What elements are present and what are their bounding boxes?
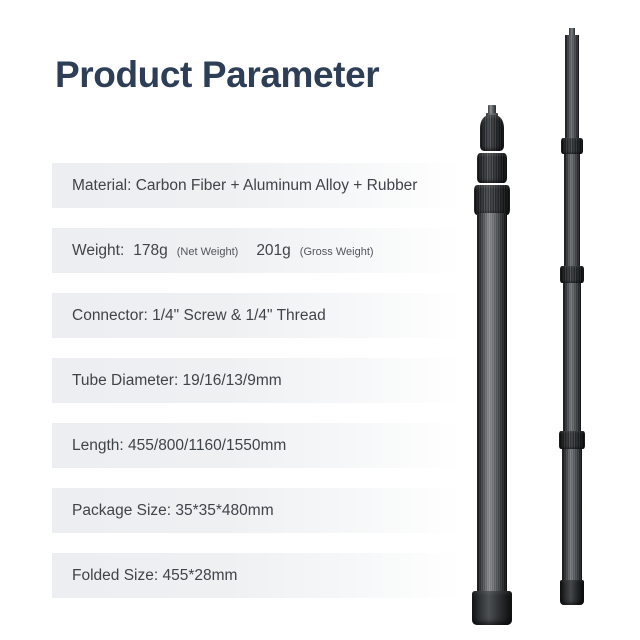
spec-row-connector: Connector: 1/4" Screw & 1/4" Thread (52, 293, 462, 338)
spec-row-material: Material: Carbon Fiber + Aluminum Alloy … (52, 163, 462, 208)
monopod-twist-lock-collar-1 (477, 153, 507, 183)
page-title: Product Parameter (55, 55, 379, 96)
spec-text-material: Material: Carbon Fiber + Aluminum Alloy … (52, 178, 417, 194)
monopod-folded-image (458, 105, 528, 625)
spec-text-package-size: Package Size: 35*35*480mm (52, 503, 274, 519)
spec-text-folded-size: Folded Size: 455*28mm (52, 568, 237, 584)
monopod-extended-section-1 (565, 35, 579, 148)
spec-text-tube-diameter: Tube Diameter: 19/16/13/9mm (52, 373, 282, 389)
spec-text-connector: Connector: 1/4" Screw & 1/4" Thread (52, 308, 326, 324)
monopod-top-cap (480, 115, 504, 151)
monopod-rubber-foot-folded (472, 591, 512, 625)
weight-label: Weight: (72, 242, 124, 259)
monopod-carbon-tube-folded (477, 213, 507, 601)
product-parameter-page: Product Parameter Material: Carbon Fiber… (0, 0, 640, 640)
weight-net-value: 178g (133, 242, 167, 259)
spec-text-weight: Weight:178g(Net Weight)201g(Gross Weight… (52, 243, 374, 259)
spec-row-tube-diameter: Tube Diameter: 19/16/13/9mm (52, 358, 462, 403)
monopod-rubber-foot-extended (560, 580, 584, 605)
weight-gross-value: 201g (256, 242, 290, 259)
weight-gross-note: (Gross Weight) (300, 246, 374, 258)
monopod-extended-image (550, 28, 598, 613)
spec-text-length: Length: 455/800/1160/1550mm (52, 438, 286, 454)
monopod-extended-section-2 (564, 146, 580, 276)
monopod-extended-section-3 (563, 274, 581, 442)
spec-list: Material: Carbon Fiber + Aluminum Alloy … (52, 163, 462, 618)
monopod-extended-lock-1 (561, 138, 583, 154)
spec-row-length: Length: 455/800/1160/1550mm (52, 423, 462, 468)
spec-row-package-size: Package Size: 35*35*480mm (52, 488, 462, 533)
monopod-extended-lock-2 (560, 266, 584, 283)
monopod-extended-section-4 (562, 440, 582, 600)
weight-net-note: (Net Weight) (177, 246, 239, 258)
monopod-extended-lock-3 (559, 431, 585, 449)
spec-row-weight: Weight:178g(Net Weight)201g(Gross Weight… (52, 228, 462, 273)
spec-row-folded-size: Folded Size: 455*28mm (52, 553, 462, 598)
product-image-area (440, 0, 640, 640)
monopod-twist-lock-collar-2 (474, 185, 510, 215)
